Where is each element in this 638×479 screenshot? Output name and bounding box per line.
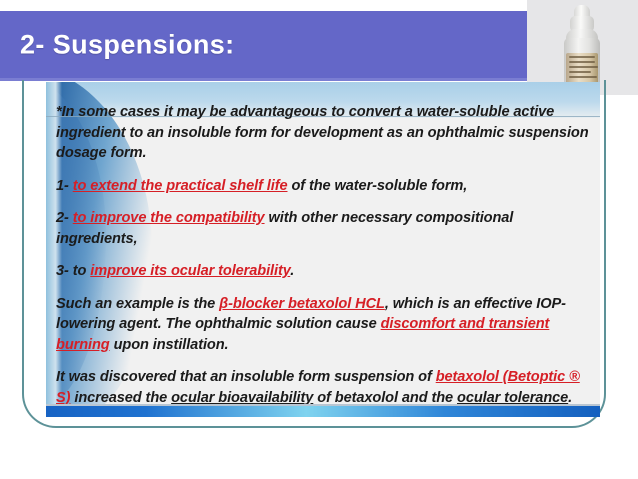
content-panel: *In some cases it may be advantageous to… — [46, 82, 600, 417]
body-run: of the water-soluble form, — [288, 178, 468, 194]
page-title: 2- Suspensions: — [20, 29, 235, 60]
highlighted-text: to improve the compatibility — [73, 210, 265, 226]
body-run: 3- to — [56, 263, 90, 279]
slide-title-bar: 2- Suspensions: — [0, 11, 527, 78]
body-run: 1- — [56, 178, 73, 194]
highlighted-text: improve its ocular tolerability — [90, 263, 290, 279]
body-run: *In some cases it may be advantageous to… — [56, 104, 589, 161]
body-run: upon instillation. — [110, 337, 229, 353]
paragraph-example: Such an example is the β-blocker betaxol… — [56, 294, 592, 356]
paragraph-item-1: 1- to extend the practical shelf life of… — [56, 176, 592, 197]
paragraph-item-3: 3- to improve its ocular tolerability. — [56, 261, 592, 282]
bottom-accent-bar — [46, 406, 600, 417]
highlighted-text: β-blocker betaxolol HCL — [219, 296, 385, 312]
paragraph-discovery: It was discovered that an insoluble form… — [56, 367, 592, 408]
body-run: 2- — [56, 210, 73, 226]
body-run: Such an example is the — [56, 296, 219, 312]
slide-body-text: *In some cases it may be advantageous to… — [56, 102, 592, 408]
slide-root: 2- Suspensions: *In some cases it may be… — [0, 0, 638, 479]
highlighted-text: to extend the practical shelf life — [73, 178, 288, 194]
paragraph-intro: *In some cases it may be advantageous to… — [56, 102, 592, 164]
paragraph-item-2: 2- to improve the compatibility with oth… — [56, 208, 592, 249]
body-run: It was discovered that an insoluble form… — [56, 369, 436, 385]
body-run: . — [290, 263, 294, 279]
